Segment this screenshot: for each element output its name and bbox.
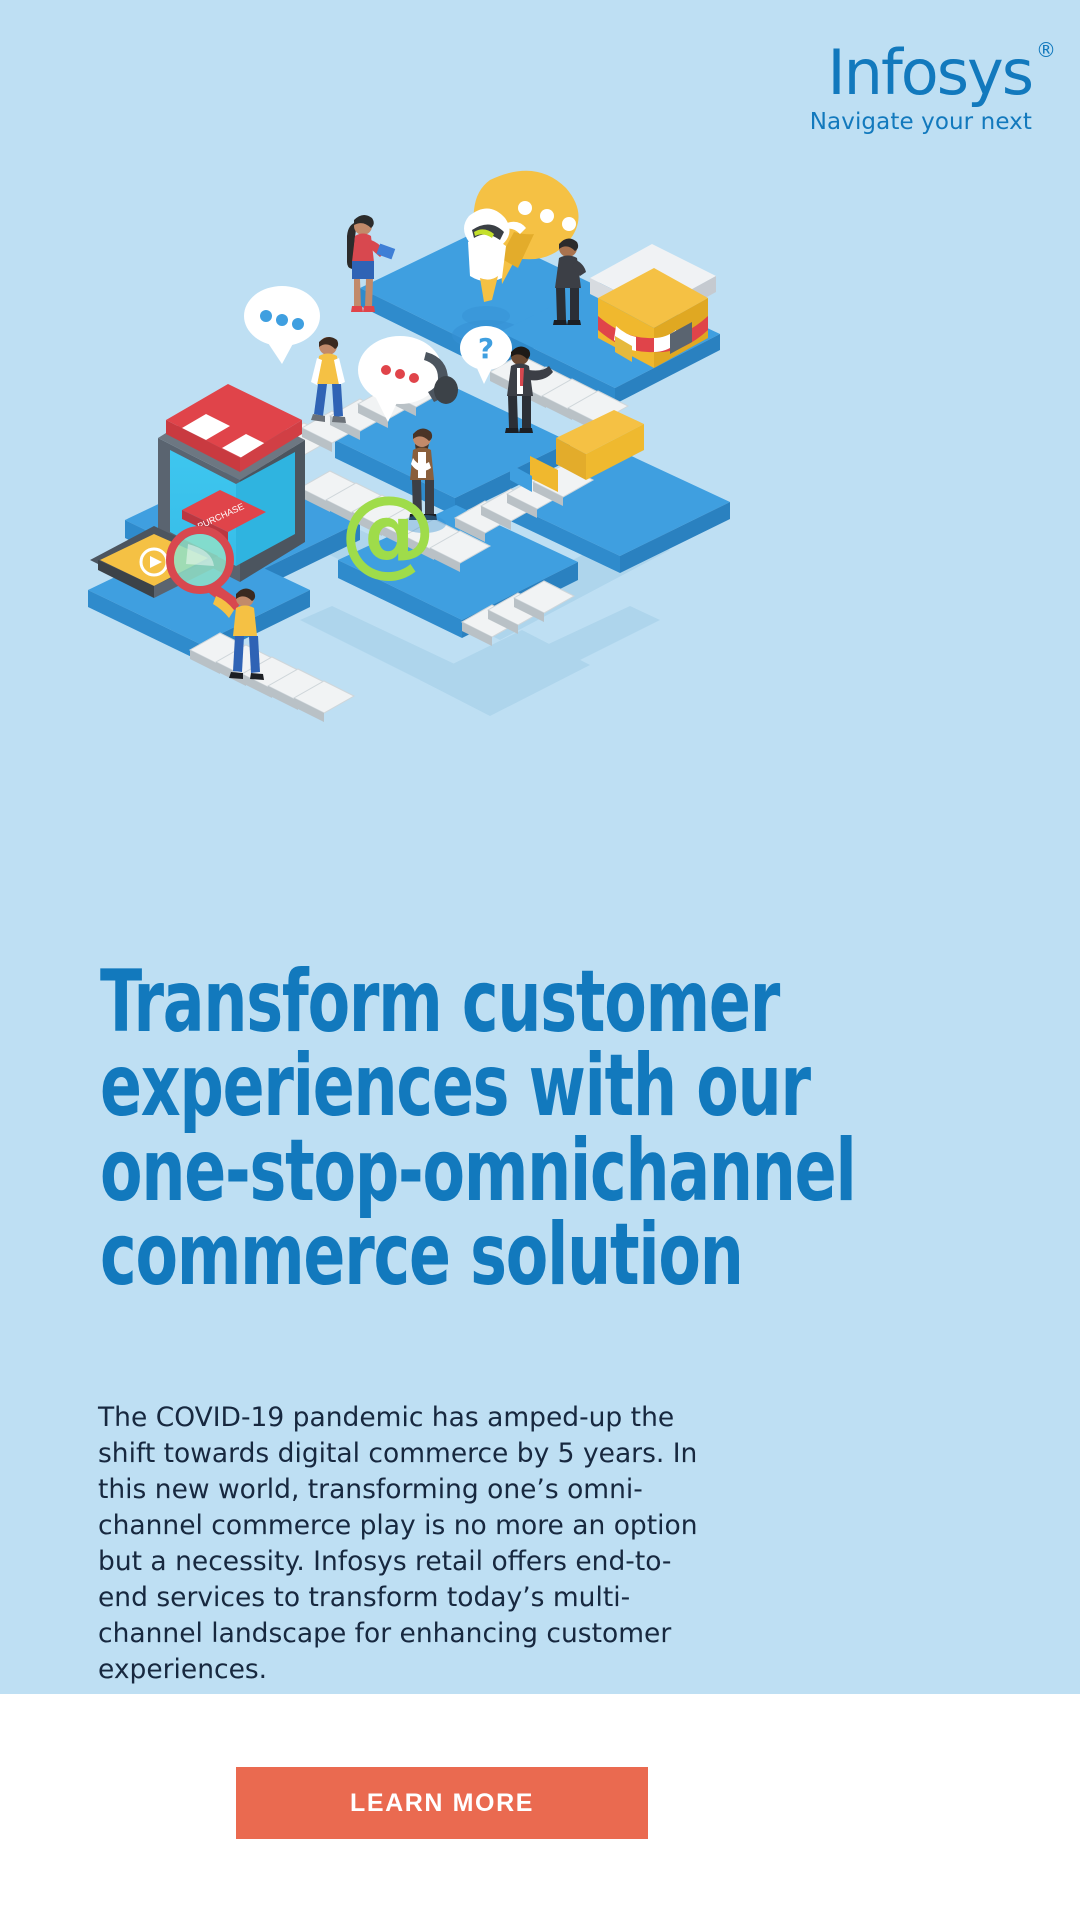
logo-wordmark: Infosys ® [827,42,1032,104]
headline-line-3: one-stop-omnichannel [100,1129,732,1213]
headline-line-1: Transform customer [100,960,732,1044]
learn-more-button[interactable]: LEARN MORE [236,1767,648,1839]
hero-section: Infosys ® Navigate your next [0,0,1080,1694]
chat-bubble-icon [244,286,320,364]
headline-line-2: experiences with our [100,1044,732,1128]
body-paragraph: The COVID-19 pandemic has amped-up the s… [98,1400,708,1688]
email-banner-page: Infosys ® Navigate your next [0,0,1080,1920]
page-headline: Transform customer experiences with our … [100,960,732,1297]
at-symbol-icon: @ [340,475,436,587]
hero-illustration: PURCHASE [70,120,750,740]
footer-section: LEARN MORE [0,1694,1080,1920]
person-walking-yellow [311,337,346,423]
at-glyph: @ [340,475,436,587]
logo-tagline: Navigate your next [810,111,1032,134]
registered-trademark-icon: ® [1036,40,1054,60]
headline-line-4: commerce solution [100,1213,732,1297]
logo-wordmark-text: Infosys [827,36,1032,109]
infosys-logo: Infosys ® Navigate your next [810,42,1032,134]
question-mark-glyph: ? [478,332,494,365]
